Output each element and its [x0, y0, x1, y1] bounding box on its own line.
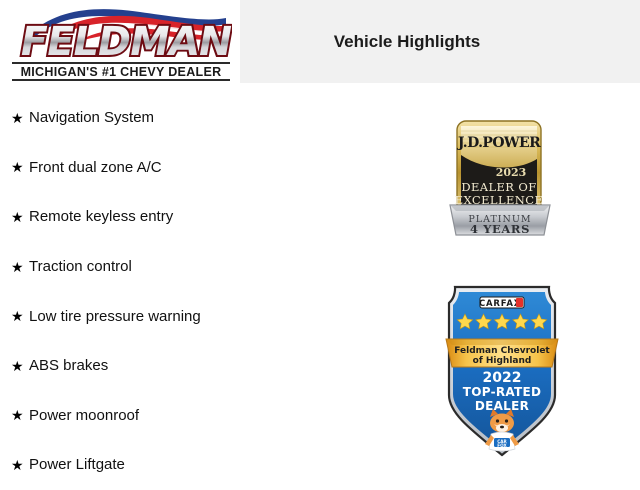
- star-bullet-icon: ★: [11, 309, 29, 323]
- jdpower-duration-text: 4 YEARS: [470, 222, 530, 236]
- svg-text:FELDMAN: FELDMAN: [16, 22, 232, 60]
- award-badges: J.D.POWER 2023 DEALER OF EXCELLENCE PLAT…: [300, 83, 640, 480]
- star-bullet-icon: ★: [11, 458, 29, 472]
- list-item: ★ ABS brakes: [0, 341, 300, 391]
- carfax-award-line2-text: DEALER: [475, 399, 529, 413]
- vehicle-highlights-list: ★ Navigation System ★ Front dual zone A/…: [0, 83, 300, 480]
- list-item: ★ Traction control: [0, 242, 300, 292]
- list-item: ★ Power Liftgate: [0, 440, 300, 490]
- list-item: ★ Front dual zone A/C: [0, 143, 300, 193]
- list-item-label: Navigation System: [29, 109, 154, 126]
- car-fox-shirt-line2-text: FOX: [497, 443, 507, 448]
- dealer-logo[interactable]: FELDMAN FELDMAN MICHIGAN'S #1 CHEVY DEAL…: [0, 0, 240, 83]
- carfax-dealer-line2-text: of Highland: [473, 356, 532, 366]
- star-bullet-icon: ★: [11, 408, 29, 422]
- jdpower-award-line1-text: DEALER OF: [461, 180, 536, 194]
- jdpower-year-text: 2023: [496, 166, 527, 179]
- page-title: Vehicle Highlights: [240, 0, 640, 83]
- list-item-label: Remote keyless entry: [29, 208, 173, 225]
- star-bullet-icon: ★: [11, 111, 29, 125]
- jdpower-brand-text: J.D.POWER: [456, 135, 541, 151]
- list-item: ★ Power moonroof: [0, 391, 300, 441]
- carfax-award-line1-text: TOP-RATED: [463, 385, 542, 399]
- carfax-award-badge: CARFAX Feldman Chevrolet of Highland 202…: [442, 283, 562, 459]
- list-item: ★ Remote keyless entry: [0, 192, 300, 242]
- carfax-year-text: 2022: [483, 370, 522, 386]
- star-bullet-icon: ★: [11, 160, 29, 174]
- list-item: ★ Navigation System: [0, 93, 300, 143]
- list-item-label: Power moonroof: [29, 407, 139, 424]
- list-item-label: Low tire pressure warning: [29, 308, 201, 325]
- star-bullet-icon: ★: [11, 210, 29, 224]
- page-header: FELDMAN FELDMAN MICHIGAN'S #1 CHEVY DEAL…: [0, 0, 640, 83]
- star-bullet-icon: ★: [11, 260, 29, 274]
- dealer-tagline: MICHIGAN'S #1 CHEVY DEALER: [12, 62, 230, 81]
- feldman-wordmark: FELDMAN FELDMAN: [10, 22, 232, 60]
- star-bullet-icon: ★: [11, 359, 29, 373]
- list-item-label: Traction control: [29, 258, 132, 275]
- carfax-brand-text: CARFAX: [479, 299, 521, 309]
- list-item: ★ Low tire pressure warning: [0, 291, 300, 341]
- list-item-label: ABS brakes: [29, 357, 108, 374]
- dealer-tagline-text: MICHIGAN'S #1 CHEVY DEALER: [21, 65, 222, 79]
- carfax-dealer-line1-text: Feldman Chevrolet: [454, 346, 550, 356]
- list-item-label: Front dual zone A/C: [29, 159, 162, 176]
- list-item-label: Power Liftgate: [29, 456, 125, 473]
- page-title-text: Vehicle Highlights: [334, 32, 480, 52]
- jdpower-award-badge: J.D.POWER 2023 DEALER OF EXCELLENCE PLAT…: [448, 119, 552, 237]
